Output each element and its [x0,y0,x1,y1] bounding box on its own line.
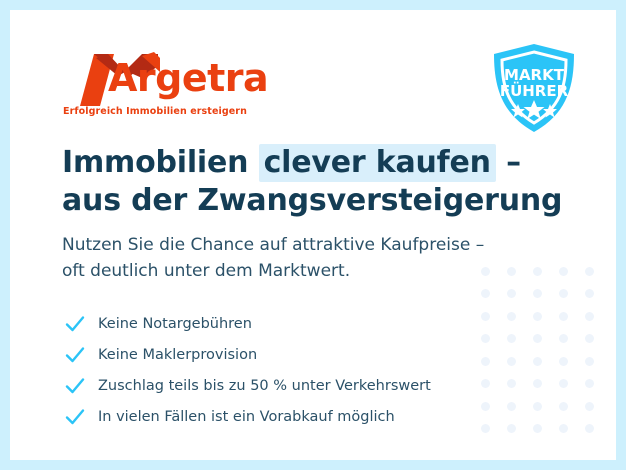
badge-line2: FÜHRER [500,81,569,100]
decorative-dot [585,334,594,343]
list-item-label: Zuschlag teils bis zu 50 % unter Verkehr… [98,378,431,394]
subheadline: Nutzen Sie die Chance auf attraktive Kau… [62,232,484,285]
check-icon [64,375,86,397]
market-leader-badge: MARKT FÜHRER [488,42,580,134]
decorative-dot [585,379,594,388]
decorative-dot [533,402,542,411]
decorative-dot [507,424,516,433]
headline-highlight: clever kaufen [259,144,496,182]
headline-line1-before: Immobilien [62,145,259,180]
decorative-dot [533,357,542,366]
list-item-label: Keine Maklerprovision [98,347,257,363]
decorative-dot [585,267,594,276]
decorative-dot [533,312,542,321]
list-item: Zuschlag teils bis zu 50 % unter Verkehr… [64,370,431,401]
decorative-dot [481,402,490,411]
decorative-dot [481,289,490,298]
decorative-dot [533,267,542,276]
decorative-dot [585,289,594,298]
decorative-dot [507,402,516,411]
decorative-dot [481,312,490,321]
list-item: In vielen Fällen ist ein Vorabkauf mögli… [64,401,431,432]
decorative-dot [559,402,568,411]
decorative-dot [559,289,568,298]
decorative-dot [507,312,516,321]
decorative-dot [559,357,568,366]
headline-line1-after: – [496,145,521,180]
decorative-dot [585,402,594,411]
logo-wordmark: Argetra [108,59,268,97]
decorative-dot [585,424,594,433]
decorative-dot [533,334,542,343]
decorative-dot [481,379,490,388]
dot-grid-decoration [472,260,602,440]
page-title: Immobilien clever kaufen – aus der Zwang… [62,144,562,221]
subheadline-line2: oft deutlich unter dem Marktwert. [62,258,484,284]
decorative-dot [585,312,594,321]
benefits-list: Keine NotargebührenKeine Maklerprovision… [64,308,431,432]
decorative-dot [507,379,516,388]
decorative-dot [481,424,490,433]
decorative-dot [559,334,568,343]
list-item: Keine Maklerprovision [64,339,431,370]
decorative-dot [507,267,516,276]
promo-banner: Argetra Erfolgreich Immobilien ersteiger… [0,0,626,470]
headline-line2: aus der Zwangsversteigerung [62,182,562,220]
decorative-dot [559,379,568,388]
subheadline-line1: Nutzen Sie die Chance auf attraktive Kau… [62,235,484,255]
decorative-dot [481,334,490,343]
decorative-dot [507,289,516,298]
decorative-dot [507,334,516,343]
decorative-dot [507,357,516,366]
check-icon [64,344,86,366]
decorative-dot [533,289,542,298]
decorative-dot [559,424,568,433]
decorative-dot [559,312,568,321]
list-item-label: In vielen Fällen ist ein Vorabkauf mögli… [98,409,395,425]
decorative-dot [481,357,490,366]
argetra-logo[interactable]: Argetra Erfolgreich Immobilien ersteiger… [62,50,262,122]
list-item-label: Keine Notargebühren [98,316,252,332]
decorative-dot [533,424,542,433]
list-item: Keine Notargebühren [64,308,431,339]
decorative-dot [533,379,542,388]
check-icon [64,313,86,335]
banner-card: Argetra Erfolgreich Immobilien ersteiger… [10,10,616,460]
logo-tagline: Erfolgreich Immobilien ersteigern [63,106,247,117]
decorative-dot [585,357,594,366]
check-icon [64,406,86,428]
decorative-dot [559,267,568,276]
